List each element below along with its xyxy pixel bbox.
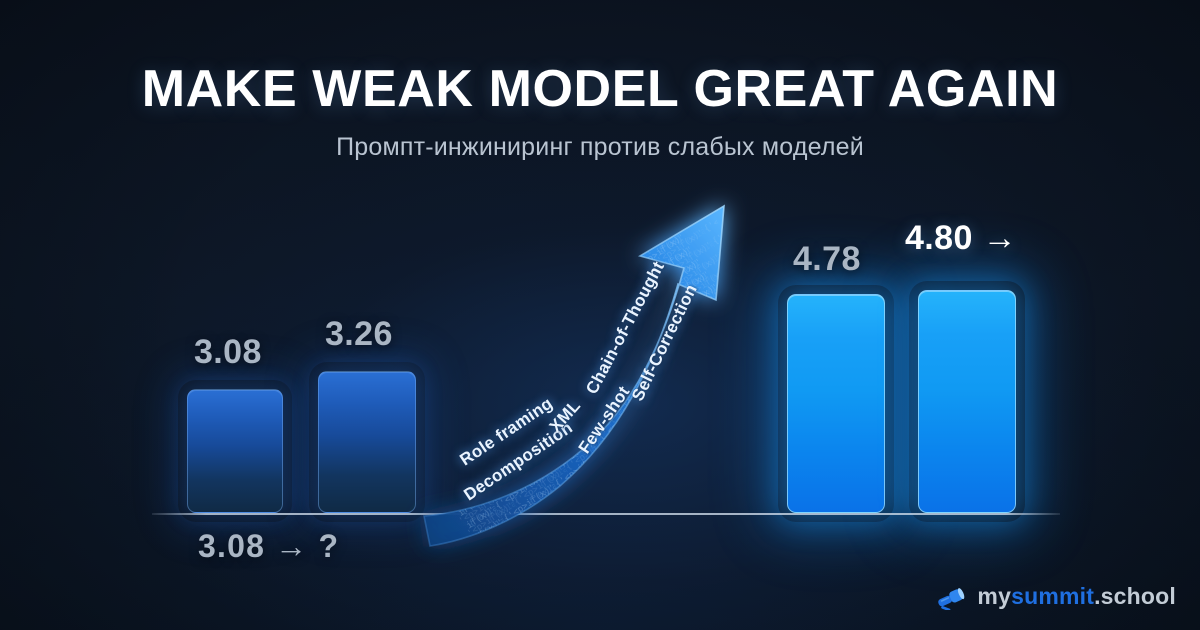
page-subtitle: Промпт-инжиниринг против слабых моделей bbox=[0, 133, 1200, 162]
technique-label-few-shot: Few-shot bbox=[575, 383, 635, 458]
page-title: MAKE WEAK MODEL GREAT AGAIN bbox=[0, 62, 1200, 117]
logo-wordmark: mysummit.school bbox=[977, 583, 1176, 610]
brand-logo[interactable]: mysummit.school bbox=[934, 583, 1176, 610]
header: MAKE WEAK MODEL GREAT AGAIN Промпт-инжин… bbox=[0, 0, 1200, 162]
logo-school: .school bbox=[1094, 583, 1176, 609]
logo-my: my bbox=[977, 583, 1011, 609]
telescope-icon bbox=[934, 584, 968, 610]
logo-summit: summit bbox=[1011, 583, 1094, 609]
